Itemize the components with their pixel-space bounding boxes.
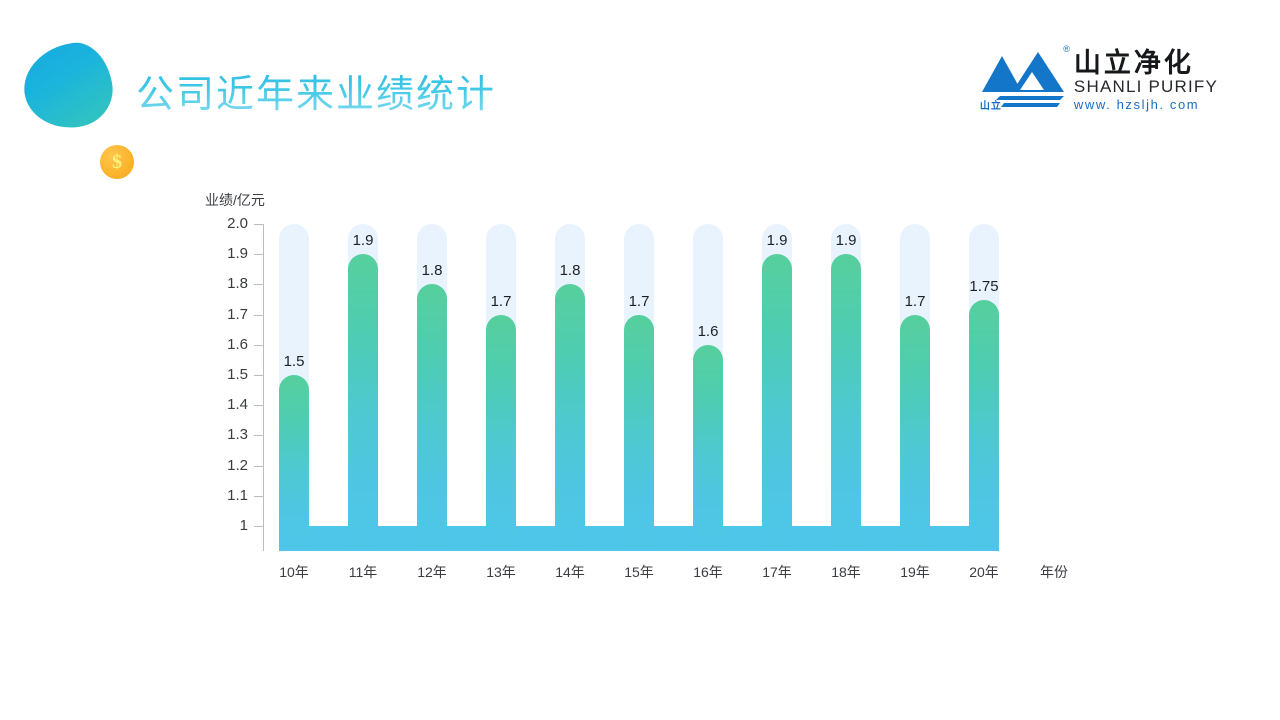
bar-value-label: 1.9	[353, 232, 374, 249]
bar-value-label: 1.9	[767, 232, 788, 249]
x-tick-label: 17年	[747, 562, 807, 582]
y-tick	[254, 496, 263, 497]
y-tick	[254, 526, 263, 527]
bar-fill	[762, 254, 792, 551]
y-tick-label: 1	[208, 517, 248, 534]
bar-value-label: 1.7	[491, 293, 512, 310]
bar-value-label: 1.6	[698, 323, 719, 340]
bar-value-label: 1.8	[422, 262, 443, 279]
bar-series: 1.51.91.81.71.81.71.61.91.91.71.75	[264, 224, 1004, 551]
y-tick	[254, 284, 263, 285]
y-tick-label: 2.0	[208, 215, 248, 232]
y-tick-label: 1.1	[208, 487, 248, 504]
y-tick-label: 1.3	[208, 426, 248, 443]
bar-fill	[624, 315, 654, 551]
x-tick-label: 11年	[333, 562, 393, 582]
bar-group[interactable]: 1.7	[624, 224, 654, 551]
bar-group[interactable]: 1.9	[348, 224, 378, 551]
bar-value-label: 1.75	[969, 278, 998, 295]
y-tick	[254, 466, 263, 467]
bar-group[interactable]: 1.7	[486, 224, 516, 551]
x-axis-title: 年份	[1040, 562, 1068, 582]
x-tick-label: 14年	[540, 562, 600, 582]
bar-group[interactable]: 1.6	[693, 224, 723, 551]
y-tick	[254, 435, 263, 436]
x-tick-label: 12年	[402, 562, 462, 582]
x-tick-label: 15年	[609, 562, 669, 582]
y-tick-label: 1.6	[208, 336, 248, 353]
y-tick-label: 1.9	[208, 245, 248, 262]
bar-fill	[555, 284, 585, 551]
bar-fill	[348, 254, 378, 551]
x-tick-label: 18年	[816, 562, 876, 582]
y-tick-label: 1.5	[208, 366, 248, 383]
y-tick-label: 1.4	[208, 396, 248, 413]
bar-value-label: 1.7	[629, 293, 650, 310]
bar-fill	[969, 300, 999, 552]
bar-value-label: 1.7	[905, 293, 926, 310]
bar-fill	[900, 315, 930, 551]
bar-group[interactable]: 1.8	[417, 224, 447, 551]
y-tick	[254, 345, 263, 346]
bar-fill	[417, 284, 447, 551]
y-tick-label: 1.7	[208, 306, 248, 323]
y-tick-label: 1.2	[208, 457, 248, 474]
bar-fill	[486, 315, 516, 551]
bar-group[interactable]: 1.9	[762, 224, 792, 551]
y-axis-title: 业绩/亿元	[205, 190, 265, 210]
bar-fill	[831, 254, 861, 551]
bar-value-label: 1.5	[284, 353, 305, 370]
y-tick	[254, 405, 263, 406]
bar-group[interactable]: 1.9	[831, 224, 861, 551]
y-tick	[254, 375, 263, 376]
bar-group[interactable]: 1.5	[279, 224, 309, 551]
bar-fill	[279, 375, 309, 551]
y-tick	[254, 315, 263, 316]
bar-value-label: 1.9	[836, 232, 857, 249]
y-tick	[254, 224, 263, 225]
x-tick-label: 16年	[678, 562, 738, 582]
bar-group[interactable]: 1.8	[555, 224, 585, 551]
x-tick-label: 19年	[885, 562, 945, 582]
y-tick-label: 1.8	[208, 275, 248, 292]
x-tick-label: 20年	[954, 562, 1014, 582]
bar-fill	[693, 345, 723, 551]
x-tick-label: 10年	[264, 562, 324, 582]
bar-value-label: 1.8	[560, 262, 581, 279]
y-tick	[254, 254, 263, 255]
performance-bar-chart: 业绩/亿元 2.01.91.81.71.61.51.41.31.21.11 1.…	[0, 0, 1280, 720]
x-tick-label: 13年	[471, 562, 531, 582]
bar-group[interactable]: 1.7	[900, 224, 930, 551]
bar-group[interactable]: 1.75	[969, 224, 999, 551]
